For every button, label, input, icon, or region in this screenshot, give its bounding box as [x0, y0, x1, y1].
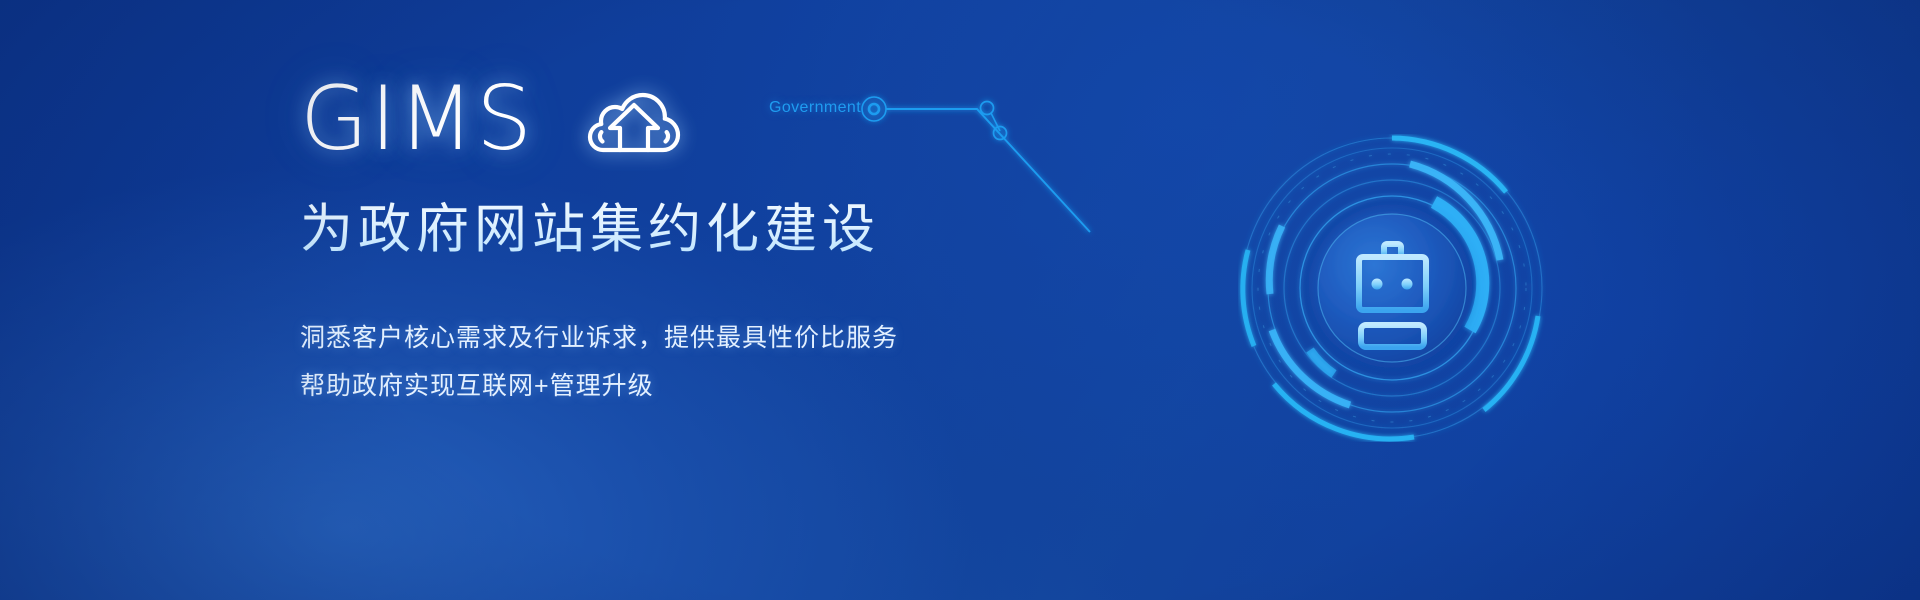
hero-banner: Government GIMS 为政府网站集约化建设 为政府网站集约化建设 洞悉…	[0, 0, 1920, 600]
brand-row: GIMS	[300, 66, 1200, 172]
brand-title: GIMS	[300, 71, 534, 167]
hero-subtitle-1: 洞悉客户核心需求及行业诉求，提供最具性价比服务	[300, 314, 1200, 362]
hero-content: GIMS 为政府网站集约化建设 为政府网站集约化建设 洞悉客户核心需求及行业诉求…	[300, 66, 1200, 410]
robot-eye-left	[1372, 279, 1383, 290]
headline-wrap: 为政府网站集约化建设 为政府网站集约化建设	[300, 198, 1200, 262]
hero-subtitles: 洞悉客户核心需求及行业诉求，提供最具性价比服务 帮助政府实现互联网+管理升级	[300, 314, 1200, 410]
hero-subtitle-2: 帮助政府实现互联网+管理升级	[300, 362, 1200, 410]
hero-headline: 为政府网站集约化建设	[300, 198, 1200, 262]
tech-ring-graphic	[1238, 134, 1546, 442]
cloud-upload-icon	[586, 84, 682, 154]
robot-eye-right	[1402, 279, 1413, 290]
